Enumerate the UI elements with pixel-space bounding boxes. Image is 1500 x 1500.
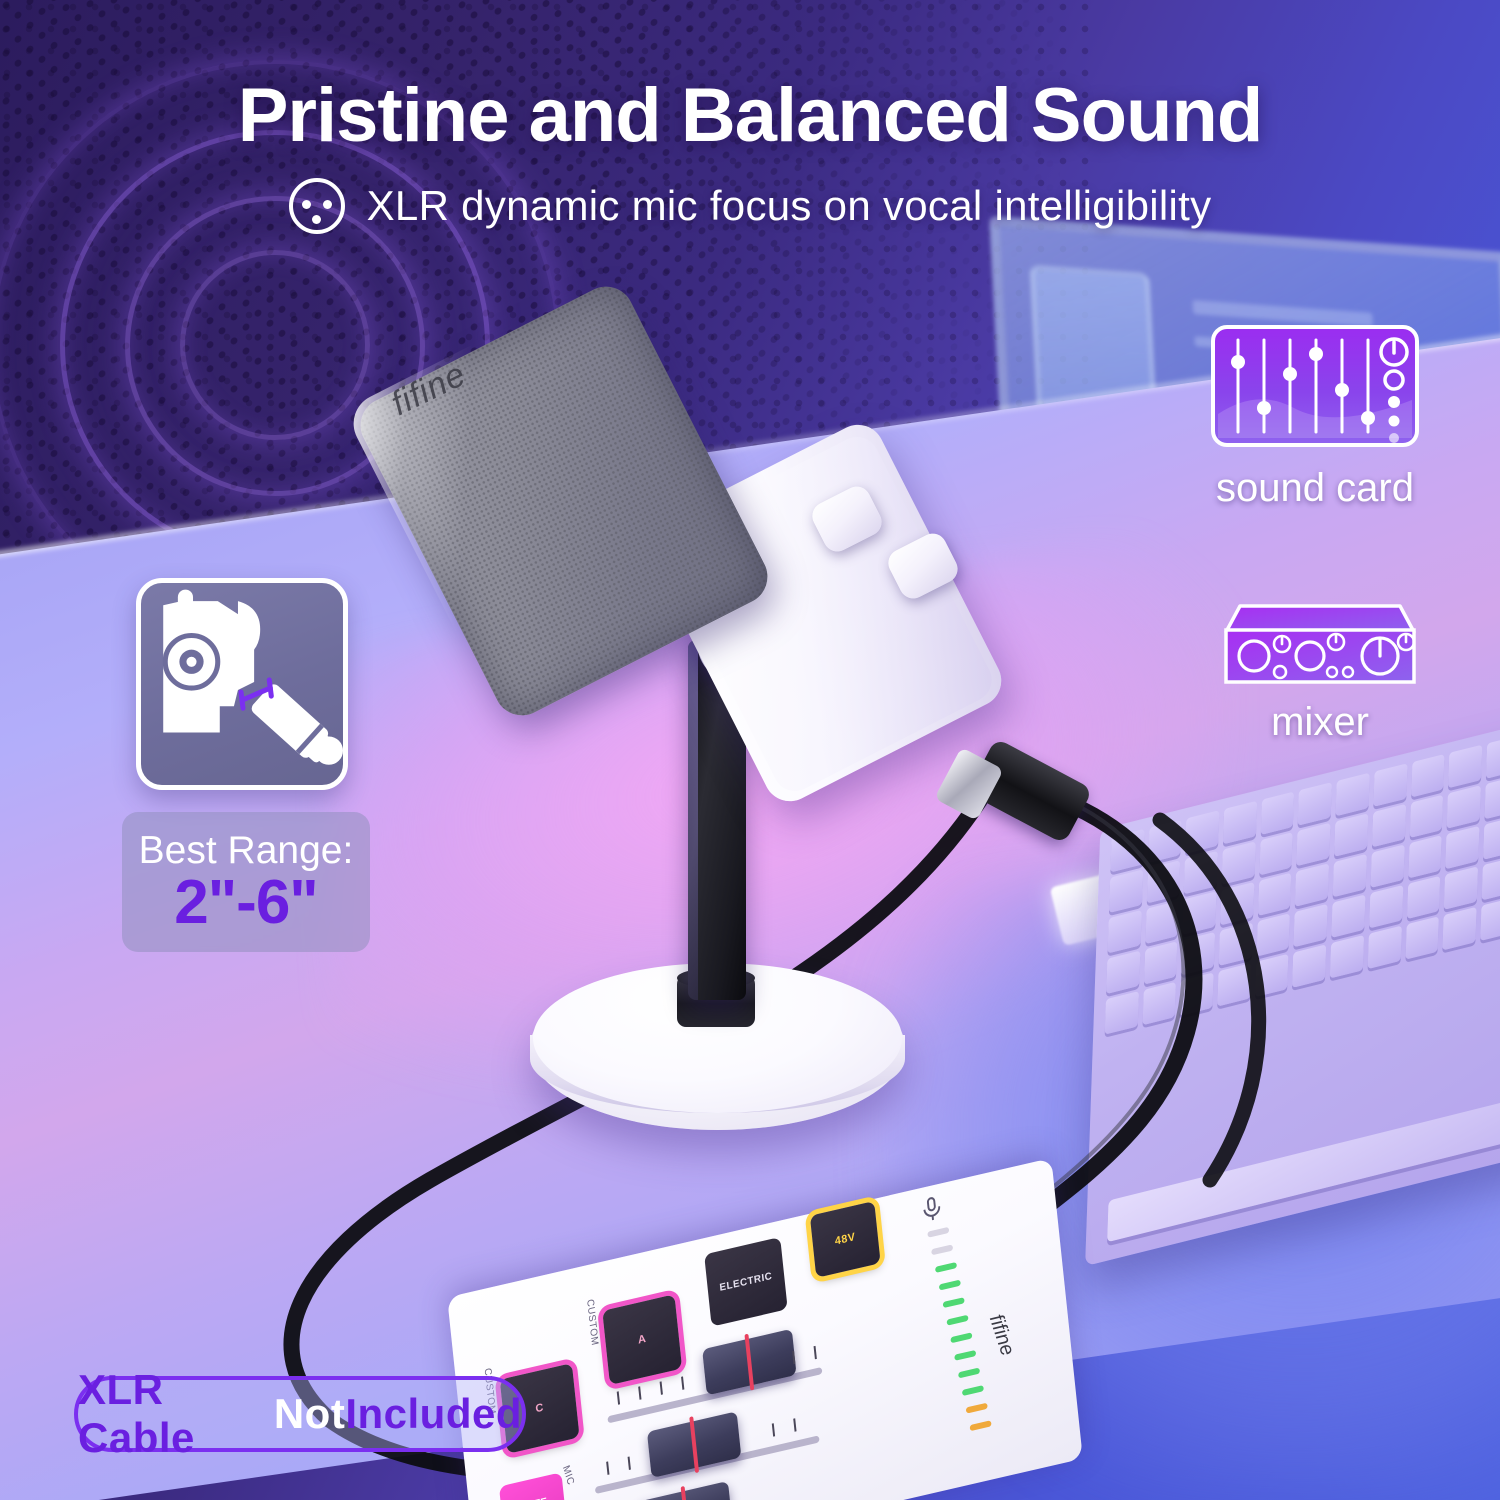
mixer-label: mixer bbox=[1210, 700, 1430, 745]
keycap bbox=[1144, 941, 1178, 984]
disclaimer-part2: Included bbox=[345, 1390, 522, 1438]
keycap bbox=[1408, 835, 1442, 878]
keycap bbox=[1185, 810, 1219, 853]
xlr-connector-icon bbox=[289, 178, 345, 234]
xlr-dynamic-microphone bbox=[404, 318, 1004, 818]
keycap bbox=[1223, 801, 1257, 845]
keycap bbox=[1109, 869, 1143, 912]
keycap bbox=[1443, 907, 1477, 951]
keycap bbox=[1372, 804, 1406, 847]
keycap bbox=[1148, 820, 1182, 863]
sound-card-label: sound card bbox=[1200, 466, 1430, 511]
phantom-power-button[interactable]: 48V bbox=[810, 1201, 881, 1278]
keycap bbox=[1220, 882, 1254, 926]
keycap bbox=[1297, 823, 1331, 866]
keycap bbox=[1482, 857, 1500, 900]
level-meter-segment bbox=[954, 1350, 976, 1361]
custom-a-label: CUSTOM bbox=[584, 1298, 600, 1347]
keycap bbox=[1486, 735, 1500, 778]
keycap bbox=[1180, 972, 1214, 1015]
keycap bbox=[1480, 897, 1500, 940]
level-meter-segment bbox=[970, 1420, 992, 1431]
level-meter-segment bbox=[931, 1244, 953, 1255]
level-meter-segment bbox=[943, 1297, 965, 1308]
keycap bbox=[1219, 922, 1253, 966]
keycap bbox=[1181, 932, 1215, 975]
keycap bbox=[1333, 854, 1367, 898]
fader-handle[interactable] bbox=[638, 1481, 732, 1500]
mixer-brand-logo: fifine bbox=[984, 1311, 1018, 1360]
sound-card-icon bbox=[1208, 322, 1422, 462]
keycap bbox=[1368, 926, 1402, 969]
page-subtitle: XLR dynamic mic focus on vocal intelligi… bbox=[367, 182, 1212, 230]
keycap bbox=[1444, 866, 1478, 910]
keycap bbox=[1108, 910, 1142, 953]
mic-mute-button[interactable]: MUTE bbox=[499, 1472, 567, 1500]
keycap bbox=[1298, 782, 1332, 825]
keycap bbox=[1447, 785, 1481, 829]
keycap bbox=[1483, 816, 1500, 859]
keycap bbox=[1294, 904, 1328, 947]
keycap bbox=[1110, 829, 1144, 872]
sound-card-feature: sound card bbox=[1200, 322, 1430, 511]
keycap bbox=[1295, 863, 1329, 906]
keycap bbox=[1405, 916, 1439, 959]
keycap bbox=[1448, 745, 1482, 789]
keycap bbox=[1334, 813, 1368, 857]
level-meter-segment bbox=[927, 1227, 949, 1238]
keycap bbox=[1373, 763, 1407, 806]
keycap bbox=[1331, 894, 1365, 938]
keycap bbox=[1292, 944, 1326, 987]
keycap bbox=[1445, 826, 1479, 870]
mixer-feature: mixer bbox=[1210, 586, 1430, 745]
fader-handle[interactable] bbox=[647, 1411, 741, 1478]
best-range-value: 2"-6" bbox=[174, 872, 317, 934]
keycap bbox=[1330, 935, 1364, 979]
level-meter-segment bbox=[958, 1367, 980, 1378]
keycap bbox=[1217, 963, 1251, 1007]
xlr-cable-disclaimer-badge: XLR Cable Not Included bbox=[74, 1376, 526, 1452]
keycap bbox=[1259, 832, 1293, 875]
microphone-icon bbox=[918, 1191, 946, 1227]
keycap bbox=[1147, 860, 1181, 903]
keycap bbox=[1336, 773, 1370, 817]
keycap bbox=[1411, 754, 1445, 797]
sound-wave-ring-3 bbox=[180, 250, 370, 440]
keycap bbox=[1106, 951, 1140, 994]
electric-button[interactable]: ELECTRIC bbox=[704, 1237, 788, 1327]
level-meter-segment bbox=[935, 1262, 957, 1273]
page-title: Pristine and Balanced Sound bbox=[0, 72, 1500, 159]
keycap bbox=[1261, 791, 1295, 834]
keycap bbox=[1222, 841, 1256, 885]
product-marketing-image: fifine C CUSTOM A CUSTOM ELECTRIC 48V MU… bbox=[0, 0, 1500, 1500]
keycap bbox=[1142, 982, 1176, 1025]
best-range-label: Best Range: bbox=[139, 831, 354, 870]
subtitle-row: XLR dynamic mic focus on vocal intelligi… bbox=[0, 178, 1500, 234]
level-meter-segment bbox=[946, 1315, 968, 1326]
level-meter-segment bbox=[962, 1385, 984, 1396]
keycap bbox=[1105, 991, 1139, 1034]
fader-handle[interactable] bbox=[702, 1329, 796, 1396]
keycap bbox=[1369, 885, 1403, 928]
keycap bbox=[1184, 851, 1218, 894]
keycap bbox=[1256, 913, 1290, 956]
headphone-head-mic-distance-icon bbox=[136, 578, 348, 790]
keycap bbox=[1145, 901, 1179, 944]
keycap bbox=[1409, 795, 1443, 838]
level-meter-segment bbox=[939, 1280, 961, 1291]
best-range-badge: Best Range: 2"-6" bbox=[122, 812, 370, 952]
keycap bbox=[1370, 844, 1404, 887]
keycap bbox=[1484, 776, 1500, 819]
level-meter-segment bbox=[950, 1332, 972, 1343]
mixer-icon bbox=[1220, 586, 1420, 690]
custom-a-button[interactable]: A bbox=[602, 1294, 682, 1385]
disclaimer-highlight: Not bbox=[274, 1390, 345, 1438]
keycap bbox=[1183, 891, 1217, 934]
level-meter-segment bbox=[966, 1403, 988, 1414]
disclaimer-part1: XLR Cable bbox=[78, 1366, 274, 1462]
keycap bbox=[1258, 873, 1292, 916]
keycap bbox=[1255, 954, 1289, 997]
keycap bbox=[1406, 876, 1440, 919]
